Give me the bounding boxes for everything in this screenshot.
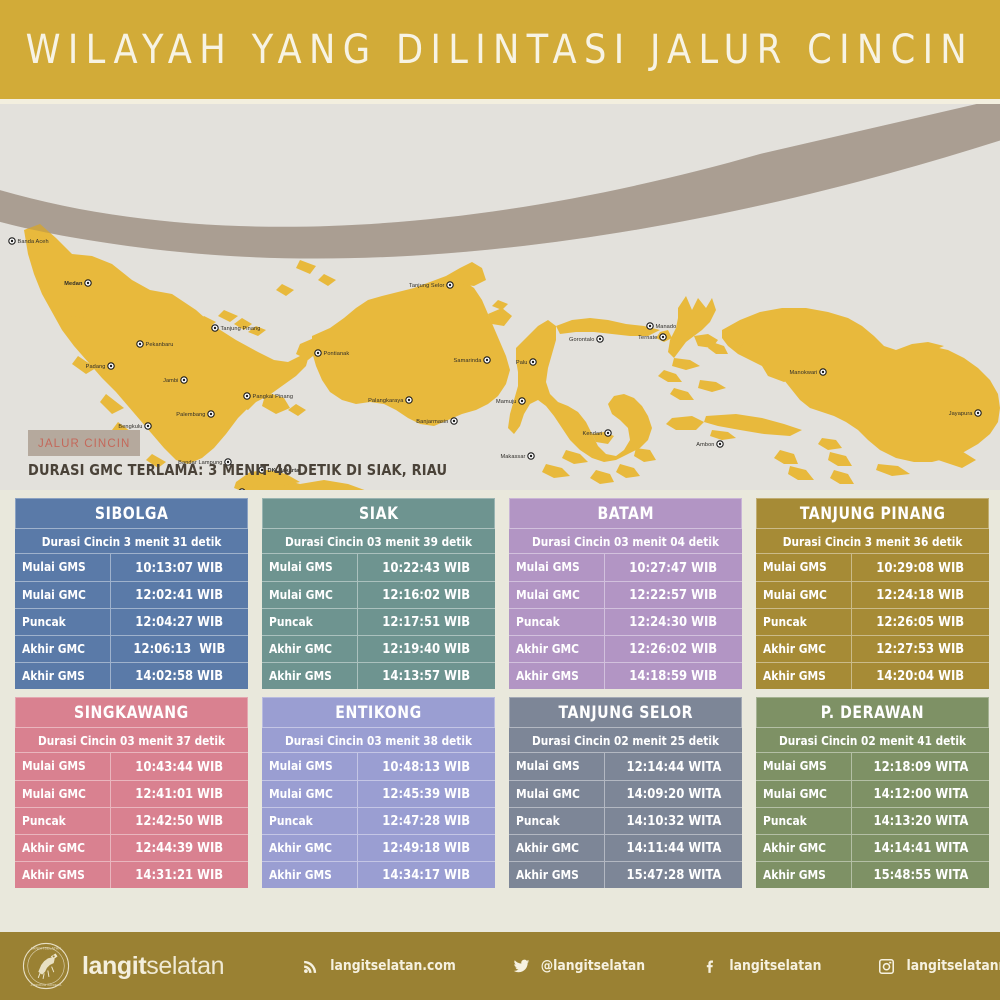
card-city-name: SIBOLGA: [95, 504, 169, 523]
social-link-instagram[interactable]: langitselatanmedia: [878, 958, 1000, 975]
table-row: Akhir GMS14:18:59 WIB: [509, 662, 742, 689]
table-row: Mulai GMS10:22:43 WIB: [262, 554, 495, 581]
table-row: Akhir GMS14:20:04 WIB: [756, 662, 989, 689]
row-label-cell: Akhir GMC: [15, 835, 111, 861]
table-row: Mulai GMS10:13:07 WIB: [15, 554, 248, 581]
row-label-text: Mulai GMC: [22, 588, 86, 603]
card-header: ENTIKONG: [262, 697, 495, 727]
facebook-icon: [702, 958, 719, 975]
card-header: SIAK: [262, 498, 495, 528]
row-value-text: 12:26:05 WIB: [877, 614, 965, 630]
row-value-cell: 14:18:59 WIB: [605, 663, 742, 689]
row-value-text: 14:13:20 WITA: [873, 813, 968, 829]
row-label-text: Puncak: [516, 814, 560, 829]
city-marker: Pontianak: [315, 350, 350, 357]
city-label: Palu: [516, 360, 528, 366]
row-label-text: Akhir GMS: [516, 669, 579, 684]
row-label-text: Akhir GMS: [516, 868, 579, 883]
card-duration-row: Durasi Cincin 3 menit 36 detik: [756, 528, 989, 554]
row-label-text: Puncak: [763, 814, 807, 829]
card-duration-row: Durasi Cincin 02 menit 25 detik: [509, 727, 742, 753]
social-text-facebook: langitselatan: [729, 958, 821, 974]
row-value-cell: 14:14:41 WITA: [852, 835, 989, 861]
table-row: Mulai GMC14:12:00 WITA: [756, 780, 989, 807]
row-label-cell: Akhir GMC: [509, 835, 605, 861]
row-value-text: 15:47:28 WITA: [626, 867, 721, 883]
row-label-text: Mulai GMS: [763, 560, 827, 575]
row-label-cell: Mulai GMS: [509, 554, 605, 581]
row-label-text: Mulai GMC: [516, 588, 580, 603]
row-value-text: 15:48:55 WITA: [873, 867, 968, 883]
city-marker: Ternate: [638, 334, 666, 341]
card-header: P. DERAWAN: [756, 697, 989, 727]
row-value-text: 12:45:39 WIB: [383, 786, 471, 802]
svg-text:LANGITSELATAN: LANGITSELATAN: [31, 947, 61, 951]
row-value-cell: 12:19:40 WIB: [358, 636, 495, 662]
row-value-cell: 10:27:47 WIB: [605, 554, 742, 581]
city-label: Medan: [64, 281, 83, 287]
row-value-text: 14:10:32 WITA: [626, 813, 721, 829]
row-value-text: 10:13:07 WIB: [136, 560, 224, 576]
row-label-cell: Mulai GMC: [756, 781, 852, 807]
row-value-text: 14:12:00 WITA: [873, 786, 968, 802]
row-label-cell: Akhir GMS: [15, 663, 111, 689]
city-label: Makassar: [500, 454, 525, 460]
row-label-cell: Mulai GMS: [756, 554, 852, 581]
row-label-cell: Puncak: [262, 808, 358, 834]
table-row: Puncak12:04:27 WIB: [15, 608, 248, 635]
card-city-name: P. DERAWAN: [821, 703, 924, 722]
table-row: Mulai GMC12:02:41 WIB: [15, 581, 248, 608]
card-duration-text: Durasi Cincin 3 menit 31 detik: [42, 534, 222, 549]
card-header: BATAM: [509, 498, 742, 528]
row-label-cell: Akhir GMC: [756, 636, 852, 662]
table-row: Mulai GMC12:16:02 WIB: [262, 581, 495, 608]
row-label-text: Mulai GMC: [763, 588, 827, 603]
city-label: Manado: [656, 324, 677, 330]
row-label-text: Akhir GMC: [22, 841, 85, 856]
social-text-website: langitselatan.com: [330, 958, 455, 974]
row-label-text: Mulai GMC: [22, 787, 86, 802]
row-value-text: 12:41:01 WIB: [136, 786, 224, 802]
row-value-cell: 12:45:39 WIB: [358, 781, 495, 807]
city-label: Jambi: [163, 378, 178, 384]
brand-bold: langit: [82, 952, 146, 980]
row-value-text: 10:48:13 WIB: [383, 759, 471, 775]
table-row: Puncak14:13:20 WITA: [756, 807, 989, 834]
row-value-cell: 10:22:43 WIB: [358, 554, 495, 581]
table-row: Puncak12:26:05 WIB: [756, 608, 989, 635]
row-value-text: 14:34:17 WIB: [383, 867, 471, 883]
row-label-text: Mulai GMS: [516, 560, 580, 575]
row-label-text: Mulai GMC: [269, 787, 333, 802]
row-label-cell: Akhir GMS: [509, 663, 605, 689]
row-value-cell: 12:47:28 WIB: [358, 808, 495, 834]
svg-text:ASTRONOMI INDONESIA: ASTRONOMI INDONESIA: [31, 984, 62, 987]
row-label-text: Akhir GMC: [763, 642, 826, 657]
city-marker: Ambon: [696, 441, 723, 448]
row-label-text: Puncak: [22, 814, 66, 829]
row-value-text: 12:24:18 WIB: [877, 587, 965, 603]
city-label: Ternate: [638, 335, 657, 341]
infographic-page: WILAYAH YANG DILINTASI JALUR CINCIN: [0, 0, 1000, 1000]
row-label-cell: Mulai GMC: [509, 781, 605, 807]
city-marker: Pekanbaru: [137, 341, 174, 348]
row-label-text: Akhir GMC: [269, 841, 332, 856]
row-value-cell: 14:34:17 WIB: [358, 862, 495, 888]
row-label-cell: Puncak: [15, 808, 111, 834]
row-label-cell: Mulai GMS: [262, 554, 358, 581]
city-label: Kendari: [583, 431, 603, 437]
instagram-icon: [878, 958, 895, 975]
city-label: Mamuju: [496, 399, 517, 405]
timing-card: BATAMDurasi Cincin 03 menit 04 detikMula…: [509, 498, 742, 689]
table-row: Mulai GMS10:27:47 WIB: [509, 554, 742, 581]
row-label-text: Akhir GMS: [269, 669, 332, 684]
card-duration-row: Durasi Cincin 3 menit 31 detik: [15, 528, 248, 554]
row-label-cell: Puncak: [509, 609, 605, 635]
social-link-twitter[interactable]: @langitselatan: [513, 958, 648, 975]
timing-card: ENTIKONGDurasi Cincin 03 menit 38 detikM…: [262, 697, 495, 888]
city-label: Gorontalo: [569, 337, 594, 343]
table-row: Mulai GMS10:48:13 WIB: [262, 753, 495, 780]
row-value-cell: 10:48:13 WIB: [358, 753, 495, 780]
card-city-name: SIAK: [359, 504, 399, 523]
twitter-icon: [513, 958, 530, 975]
city-marker: Mamuju: [496, 398, 525, 405]
table-row: Mulai GMC12:41:01 WIB: [15, 780, 248, 807]
social-link-website[interactable]: langitselatan.com: [302, 958, 459, 975]
row-value-text: 12:14:44 WITA: [626, 759, 721, 775]
row-value-cell: 12:42:50 WIB: [111, 808, 248, 834]
row-label-cell: Mulai GMC: [262, 582, 358, 608]
row-value-cell: 12:49:18 WIB: [358, 835, 495, 861]
table-row: Mulai GMS12:18:09 WITA: [756, 753, 989, 780]
row-value-text: 14:02:58 WIB: [136, 668, 224, 684]
row-label-cell: Akhir GMS: [756, 663, 852, 689]
row-label-cell: Akhir GMC: [756, 835, 852, 861]
city-marker: Manokwari: [790, 369, 827, 376]
brand-light: selatan: [146, 952, 224, 980]
row-value-text: 12:16:02 WIB: [383, 587, 471, 603]
city-marker: Jambi: [163, 377, 187, 384]
row-label-cell: Puncak: [756, 808, 852, 834]
city-label: Padang: [86, 364, 106, 370]
table-row: Mulai GMC12:24:18 WIB: [756, 581, 989, 608]
card-duration-row: Durasi Cincin 03 menit 38 detik: [262, 727, 495, 753]
indonesia-map: Banda AcehMedanTanjung PinangPekanbaruPa…: [0, 104, 1000, 490]
table-row: Akhir GMS14:31:21 WIB: [15, 861, 248, 888]
table-row: Mulai GMS12:14:44 WITA: [509, 753, 742, 780]
card-duration-row: Durasi Cincin 03 menit 04 detik: [509, 528, 742, 554]
row-value-cell: 12:27:53 WIB: [852, 636, 989, 662]
row-value-cell: 15:48:55 WITA: [852, 862, 989, 888]
header-bar: WILAYAH YANG DILINTASI JALUR CINCIN: [0, 0, 1000, 99]
city-label: Pekanbaru: [146, 342, 174, 348]
city-label: Palangkaraya: [368, 398, 404, 404]
row-label-cell: Mulai GMS: [15, 753, 111, 780]
timing-card: SIBOLGADurasi Cincin 3 menit 31 detikMul…: [15, 498, 248, 689]
card-header: SINGKAWANG: [15, 697, 248, 727]
row-label-cell: Mulai GMC: [509, 582, 605, 608]
row-label-cell: Akhir GMC: [262, 636, 358, 662]
city-label: Ambon: [696, 442, 714, 448]
card-duration-text: Durasi Cincin 02 menit 25 detik: [532, 733, 719, 748]
city-timing-cards-grid: SIBOLGADurasi Cincin 3 menit 31 detikMul…: [0, 498, 1000, 888]
row-value-cell: 14:09:20 WITA: [605, 781, 742, 807]
row-value-cell: 12:18:09 WITA: [852, 753, 989, 780]
row-label-text: Akhir GMS: [763, 669, 826, 684]
table-row: Akhir GMS15:48:55 WITA: [756, 861, 989, 888]
card-duration-text: Durasi Cincin 03 menit 04 detik: [532, 534, 719, 549]
city-marker: Gorontalo: [569, 336, 603, 343]
row-value-text: 12:27:53 WIB: [877, 641, 965, 657]
row-value-cell: 12:04:27 WIB: [111, 609, 248, 635]
legend-jalur-cincin: JALUR CINCIN: [28, 430, 140, 456]
row-value-text: 10:27:47 WIB: [630, 560, 718, 576]
table-row: Akhir GMS14:02:58 WIB: [15, 662, 248, 689]
row-label-text: Mulai GMS: [22, 560, 86, 575]
row-label-text: Mulai GMC: [516, 787, 580, 802]
row-value-text: 12:02:41 WIB: [136, 587, 224, 603]
table-row: Puncak12:24:30 WIB: [509, 608, 742, 635]
city-marker: Palu: [516, 359, 536, 366]
table-row: Mulai GMC12:45:39 WIB: [262, 780, 495, 807]
row-value-text: 14:13:57 WIB: [383, 668, 471, 684]
city-label: Pontianak: [324, 351, 350, 357]
card-duration-row: Durasi Cincin 02 menit 41 detik: [756, 727, 989, 753]
row-value-text: 12:42:50 WIB: [136, 813, 224, 829]
row-label-cell: Akhir GMS: [262, 663, 358, 689]
card-duration-text: Durasi Cincin 02 menit 41 detik: [779, 733, 966, 748]
card-header: TANJUNG SELOR: [509, 697, 742, 727]
row-value-text: 12:19:40 WIB: [383, 641, 471, 657]
card-city-name: ENTIKONG: [335, 703, 421, 722]
city-marker: Medan: [64, 280, 91, 287]
brand-wordmark: langitselatan: [82, 952, 224, 981]
card-header: TANJUNG PINANG: [756, 498, 989, 528]
card-duration-row: Durasi Cincin 03 menit 37 detik: [15, 727, 248, 753]
table-row: Akhir GMC12:06:13 WIB: [15, 635, 248, 662]
row-value-cell: 14:20:04 WIB: [852, 663, 989, 689]
row-value-cell: 12:24:30 WIB: [605, 609, 742, 635]
row-value-text: 12:49:18 WIB: [383, 840, 471, 856]
city-marker: Jayapura: [949, 410, 982, 417]
row-value-cell: 12:26:05 WIB: [852, 609, 989, 635]
row-label-cell: Mulai GMC: [756, 582, 852, 608]
table-row: Akhir GMS14:34:17 WIB: [262, 861, 495, 888]
row-value-text: 10:22:43 WIB: [383, 560, 471, 576]
row-value-text: 12:17:51 WIB: [383, 614, 471, 630]
city-label: Banjarmasin: [416, 419, 448, 425]
row-value-text: 12:26:02 WIB: [630, 641, 718, 657]
timing-card: TANJUNG PINANGDurasi Cincin 3 menit 36 d…: [756, 498, 989, 689]
row-label-text: Puncak: [269, 814, 313, 829]
footer-logo: LANGITSELATAN ASTRONOMI INDONESIA langit…: [22, 942, 224, 990]
row-label-text: Puncak: [763, 615, 807, 630]
footer-bar: LANGITSELATAN ASTRONOMI INDONESIA langit…: [0, 932, 1000, 1000]
row-value-cell: 10:29:08 WIB: [852, 554, 989, 581]
row-value-text: 14:11:44 WITA: [626, 840, 721, 856]
row-value-cell: 14:13:57 WIB: [358, 663, 495, 689]
card-city-name: TANJUNG PINANG: [800, 504, 946, 523]
table-row: Akhir GMC12:49:18 WIB: [262, 834, 495, 861]
table-row: Akhir GMC12:27:53 WIB: [756, 635, 989, 662]
row-label-text: Akhir GMS: [763, 868, 826, 883]
row-value-text: 12:06:13 WIB: [134, 641, 226, 657]
row-label-text: Akhir GMC: [269, 642, 332, 657]
row-value-text: 14:20:04 WIB: [877, 668, 965, 684]
row-value-cell: 14:12:00 WITA: [852, 781, 989, 807]
row-value-text: 12:04:27 WIB: [136, 614, 224, 630]
card-duration-row: Durasi Cincin 03 menit 39 detik: [262, 528, 495, 554]
social-links: langitselatan.com @langitselatan langits…: [302, 958, 1000, 975]
page-title: WILAYAH YANG DILINTASI JALUR CINCIN: [26, 27, 974, 73]
row-value-cell: 12:22:57 WIB: [605, 582, 742, 608]
city-marker: Padang: [86, 363, 115, 370]
row-value-text: 14:14:41 WITA: [873, 840, 968, 856]
row-label-cell: Akhir GMS: [509, 862, 605, 888]
card-city-name: SINGKAWANG: [74, 703, 189, 722]
card-city-name: BATAM: [597, 504, 654, 523]
langitselatan-seal-icon: LANGITSELATAN ASTRONOMI INDONESIA: [22, 942, 70, 990]
city-marker: Kendari: [583, 430, 612, 437]
city-marker: Bengkulu: [118, 423, 151, 430]
table-row: Akhir GMS14:13:57 WIB: [262, 662, 495, 689]
row-value-cell: 10:13:07 WIB: [111, 554, 248, 581]
table-row: Akhir GMC14:11:44 WITA: [509, 834, 742, 861]
row-label-text: Akhir GMC: [516, 642, 579, 657]
social-text-instagram: langitselatanmedia: [906, 958, 1000, 974]
city-label: Samarinda: [454, 358, 483, 364]
row-value-cell: 14:10:32 WITA: [605, 808, 742, 834]
row-label-text: Akhir GMC: [763, 841, 826, 856]
row-value-cell: 15:47:28 WITA: [605, 862, 742, 888]
row-label-cell: Puncak: [15, 609, 111, 635]
row-label-cell: Mulai GMS: [15, 554, 111, 581]
city-label: Tanjung Selor: [409, 283, 445, 289]
row-value-cell: 12:26:02 WIB: [605, 636, 742, 662]
row-value-text: 14:31:21 WIB: [136, 867, 224, 883]
card-duration-text: Durasi Cincin 3 menit 36 detik: [783, 534, 963, 549]
row-label-cell: Mulai GMS: [262, 753, 358, 780]
row-label-cell: Akhir GMS: [15, 862, 111, 888]
row-label-text: Akhir GMS: [269, 868, 332, 883]
table-row: Puncak12:47:28 WIB: [262, 807, 495, 834]
row-value-cell: 12:14:44 WITA: [605, 753, 742, 780]
row-label-cell: Puncak: [262, 609, 358, 635]
timing-card: TANJUNG SELORDurasi Cincin 02 menit 25 d…: [509, 697, 742, 888]
row-label-text: Puncak: [269, 615, 313, 630]
row-label-text: Mulai GMS: [516, 759, 580, 774]
row-label-cell: Mulai GMC: [15, 781, 111, 807]
city-marker: Samarinda: [454, 357, 491, 364]
row-label-cell: Akhir GMS: [262, 862, 358, 888]
map-panel: Banda AcehMedanTanjung PinangPekanbaruPa…: [0, 104, 1000, 490]
table-row: Akhir GMC12:44:39 WIB: [15, 834, 248, 861]
social-text-twitter: @langitselatan: [541, 958, 645, 974]
row-value-cell: 12:41:01 WIB: [111, 781, 248, 807]
row-value-cell: 12:02:41 WIB: [111, 582, 248, 608]
row-value-text: 12:44:39 WIB: [136, 840, 224, 856]
table-row: Mulai GMS10:43:44 WIB: [15, 753, 248, 780]
row-value-cell: 14:31:21 WIB: [111, 862, 248, 888]
city-label: Tanjung Pinang: [221, 326, 261, 332]
row-label-text: Akhir GMC: [516, 841, 579, 856]
row-label-text: Akhir GMS: [22, 669, 85, 684]
row-label-cell: Akhir GMC: [509, 636, 605, 662]
table-row: Puncak12:42:50 WIB: [15, 807, 248, 834]
row-value-cell: 12:06:13 WIB: [111, 636, 248, 662]
table-row: Akhir GMC14:14:41 WITA: [756, 834, 989, 861]
row-value-text: 10:29:08 WIB: [877, 560, 965, 576]
table-row: Mulai GMC12:22:57 WIB: [509, 581, 742, 608]
row-label-text: Mulai GMS: [269, 759, 333, 774]
row-value-text: 12:22:57 WIB: [630, 587, 718, 603]
city-label: Pangkal Pinang: [253, 394, 294, 400]
city-marker: Makassar: [500, 453, 534, 460]
row-label-text: Mulai GMC: [269, 588, 333, 603]
table-row: Akhir GMC12:26:02 WIB: [509, 635, 742, 662]
row-value-text: 12:24:30 WIB: [630, 614, 718, 630]
row-label-text: Puncak: [22, 615, 66, 630]
row-label-text: Mulai GMS: [269, 560, 333, 575]
city-label: Palembang: [176, 412, 205, 418]
row-label-cell: Puncak: [756, 609, 852, 635]
row-value-text: 14:18:59 WIB: [630, 668, 718, 684]
row-value-cell: 12:17:51 WIB: [358, 609, 495, 635]
row-label-text: Puncak: [516, 615, 560, 630]
row-label-text: Akhir GMC: [22, 642, 85, 657]
row-value-text: 12:18:09 WITA: [873, 759, 968, 775]
row-value-cell: 14:13:20 WITA: [852, 808, 989, 834]
row-value-cell: 12:24:18 WIB: [852, 582, 989, 608]
row-value-cell: 14:11:44 WITA: [605, 835, 742, 861]
row-value-cell: 12:16:02 WIB: [358, 582, 495, 608]
row-label-text: Mulai GMS: [22, 759, 86, 774]
row-value-cell: 12:44:39 WIB: [111, 835, 248, 861]
timing-card: SIAKDurasi Cincin 03 menit 39 detikMulai…: [262, 498, 495, 689]
legend-label: JALUR CINCIN: [38, 438, 130, 450]
card-city-name: TANJUNG SELOR: [558, 703, 693, 722]
table-row: Mulai GMC14:09:20 WITA: [509, 780, 742, 807]
city-label: Manokwari: [790, 370, 818, 376]
row-label-cell: Mulai GMC: [15, 582, 111, 608]
city-label: Banda Aceh: [18, 239, 49, 245]
timing-card: SINGKAWANGDurasi Cincin 03 menit 37 deti…: [15, 697, 248, 888]
row-label-cell: Akhir GMC: [15, 636, 111, 662]
card-duration-text: Durasi Cincin 03 menit 37 detik: [38, 733, 225, 748]
row-label-text: Mulai GMS: [763, 759, 827, 774]
row-value-cell: 10:43:44 WIB: [111, 753, 248, 780]
card-header: SIBOLGA: [15, 498, 248, 528]
row-label-cell: Mulai GMS: [756, 753, 852, 780]
table-row: Akhir GMS15:47:28 WITA: [509, 861, 742, 888]
table-row: Puncak14:10:32 WITA: [509, 807, 742, 834]
card-duration-text: Durasi Cincin 03 menit 38 detik: [285, 733, 472, 748]
row-label-cell: Akhir GMC: [262, 835, 358, 861]
map-caption: DURASI GMC TERLAMA: 3 MENIT 40 DETIK DI …: [28, 461, 447, 479]
row-label-cell: Mulai GMS: [509, 753, 605, 780]
social-link-facebook[interactable]: langitselatan: [702, 958, 824, 975]
row-value-cell: 14:02:58 WIB: [111, 663, 248, 689]
row-label-cell: Akhir GMS: [756, 862, 852, 888]
city-label: Jayapura: [949, 411, 974, 417]
row-value-text: 10:43:44 WIB: [136, 759, 224, 775]
card-duration-text: Durasi Cincin 03 menit 39 detik: [285, 534, 472, 549]
row-label-cell: Puncak: [509, 808, 605, 834]
table-row: Puncak12:17:51 WIB: [262, 608, 495, 635]
